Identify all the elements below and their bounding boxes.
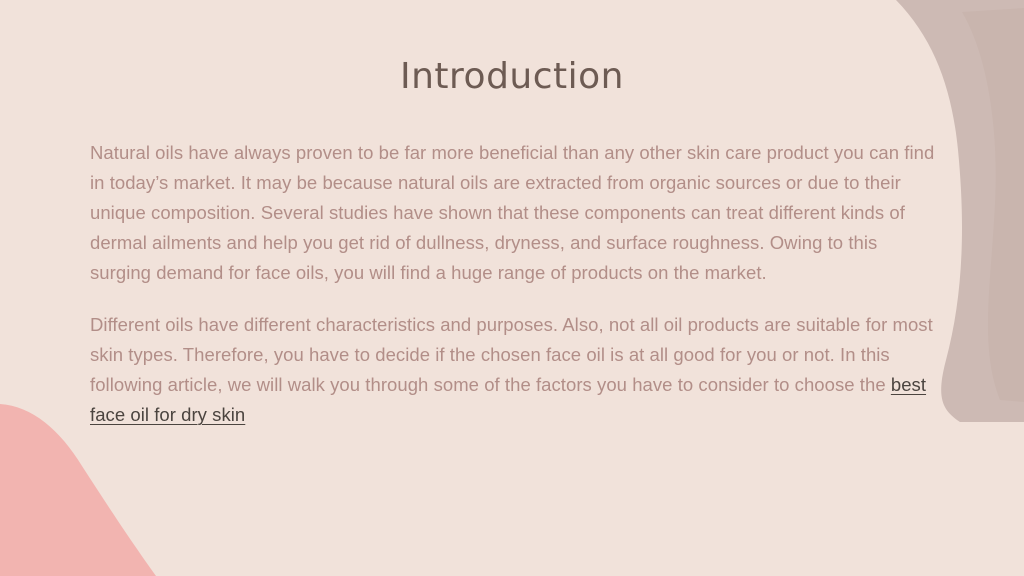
paragraph-1: Natural oils have always proven to be fa… <box>90 138 938 288</box>
page-title: Introduction <box>0 56 1024 97</box>
slide-canvas: Introduction Natural oils have always pr… <box>0 0 1024 576</box>
paragraph-2: Different oils have different characteri… <box>90 310 938 430</box>
body-content: Natural oils have always proven to be fa… <box>90 138 938 430</box>
paragraph-2-lead-text: Different oils have different characteri… <box>90 314 933 395</box>
